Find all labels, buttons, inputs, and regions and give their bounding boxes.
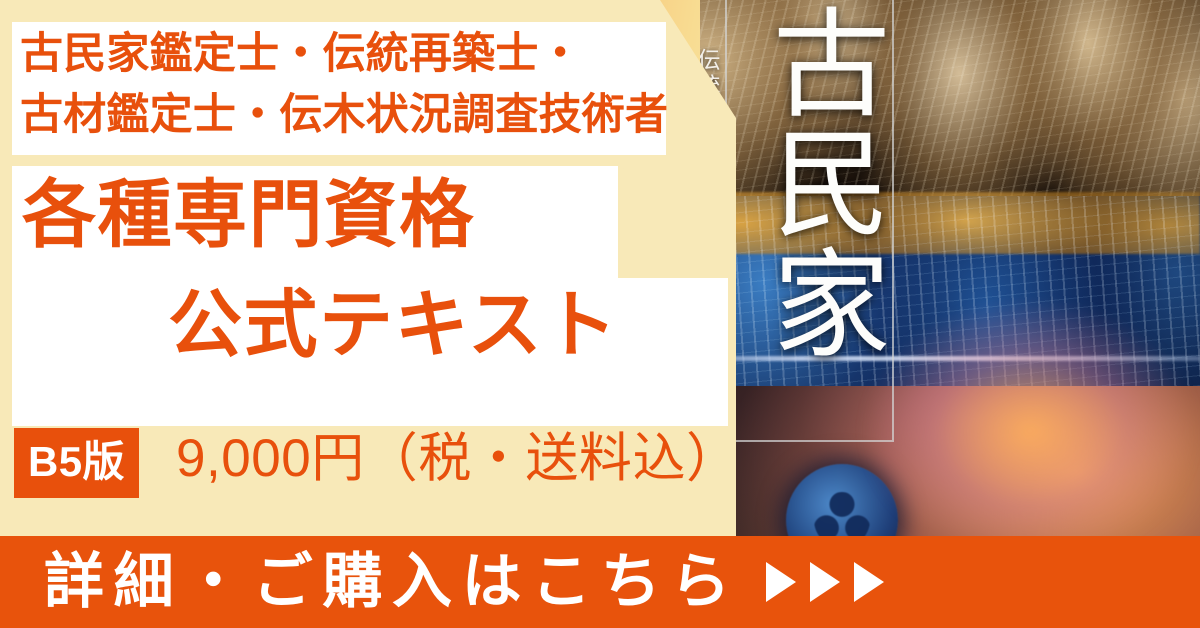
format-badge: B5版 [14,428,139,498]
qualifications-heading: 古民家鑑定士・伝統再築士・ 古材鑑定士・伝木状況調査技術者 [20,24,720,146]
triangle-right-icon [810,562,840,602]
cta-arrow-group [766,562,884,602]
qualifications-heading-line-1: 古民家鑑定士・伝統再築士・ [20,24,720,85]
triangle-right-icon [854,562,884,602]
main-title-line-2: 公式テキスト [168,288,619,362]
cta-bar[interactable]: 詳細・ご購入はこちら [0,536,1200,628]
cover-title: 古民家 [735,2,885,363]
promo-banner: 古民家 伝統構法、古民家活用のための調査と再生の 古民家鑑定士・伝統再築士・ 古… [0,0,1200,628]
cta-label: 詳細・ご購入はこちら [44,552,740,612]
qualifications-heading-line-2: 古材鑑定士・伝木状況調査技術者 [20,85,720,146]
price-text: 9,000円（税・送料込） [176,432,740,485]
main-title-line-1: 各種専門資格 [22,178,475,252]
triangle-right-icon [766,562,796,602]
